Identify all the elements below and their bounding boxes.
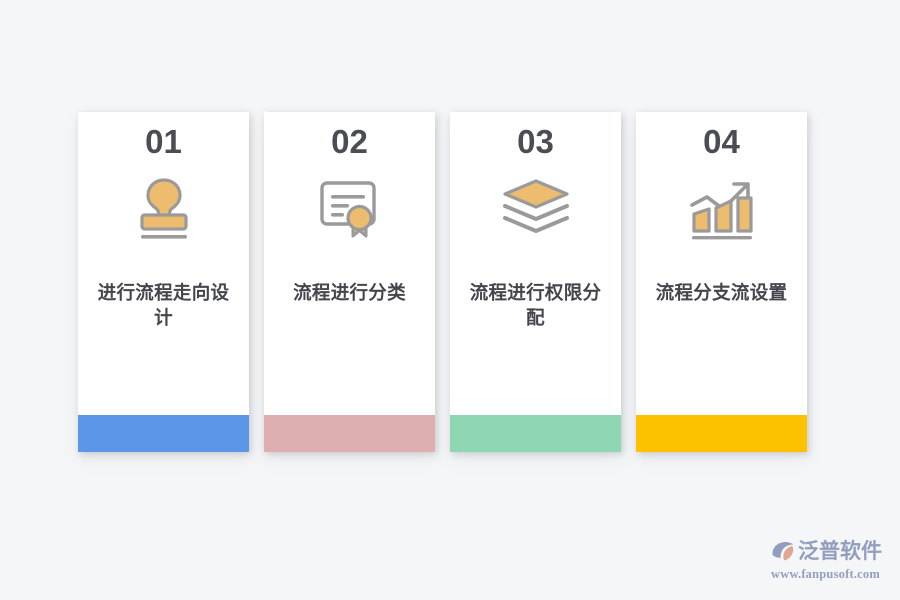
step-card-list: 01 进行流程走向设计 02 流程进行分类 03 [78,112,822,452]
step-label: 流程进行分类 [275,281,425,306]
stamp-icon [78,175,249,243]
step-number: 03 [517,125,554,158]
step-card-02[interactable]: 02 流程进行分类 [264,112,435,452]
step-card-03[interactable]: 03 流程进行权限分配 [450,112,621,452]
bar-chart-growth-icon [636,175,807,243]
watermark-url: www.fanpusoft.com [771,567,880,582]
step-card-01[interactable]: 01 进行流程走向设计 [78,112,249,452]
step-accent-bar [264,415,435,452]
step-label: 进行流程走向设计 [89,281,239,331]
layers-icon [450,175,621,243]
step-number: 04 [703,125,740,158]
watermark-brand: 泛普软件 [798,541,882,562]
step-label: 流程进行权限分配 [461,281,611,331]
step-accent-bar [636,415,807,452]
fanpu-logo-icon [770,539,795,564]
step-card-04[interactable]: 04 流程分支流设置 [636,112,807,452]
step-label: 流程分支流设置 [647,281,797,306]
step-accent-bar [78,415,249,452]
step-number: 02 [331,125,368,158]
step-accent-bar [450,415,621,452]
watermark-top-row: 泛普软件 [770,537,882,565]
certificate-icon [264,175,435,243]
watermark: 泛普软件 www.fanpusoft.com [770,537,892,585]
step-number: 01 [145,125,182,158]
